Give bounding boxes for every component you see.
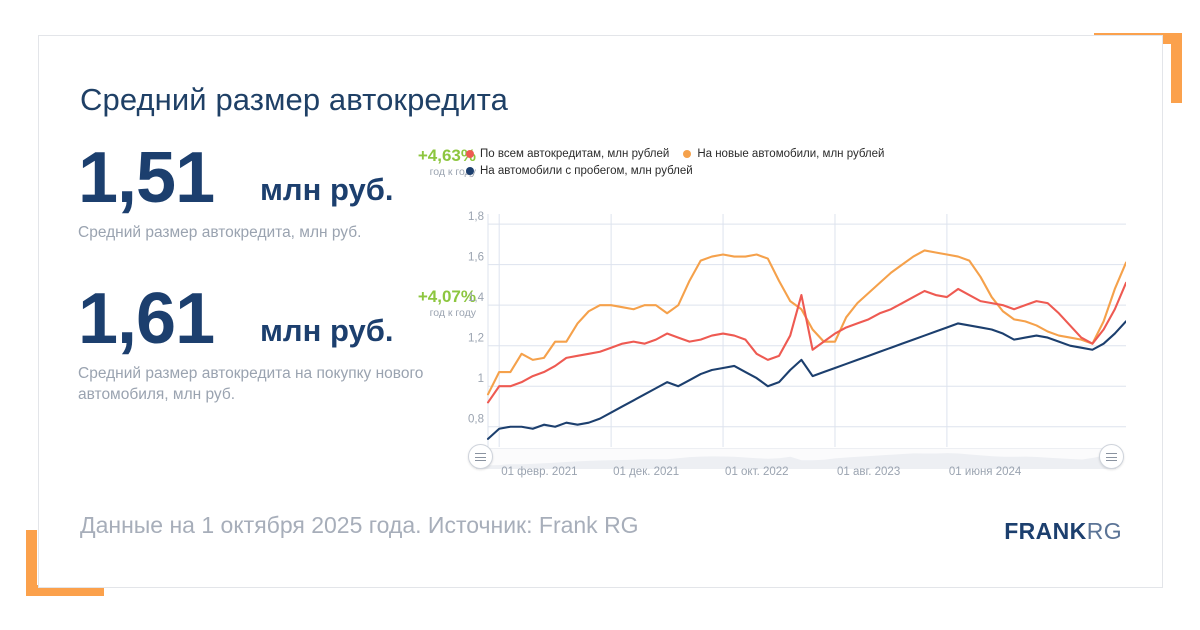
legend-dot-icon <box>683 150 691 158</box>
logo-bold-part: FRANK <box>1004 518 1087 544</box>
x-axis-tick-label: 01 февр. 2021 <box>501 466 577 478</box>
legend-item-used-cars[interactable]: На автомобили с пробегом, млн рублей <box>466 165 693 177</box>
legend-label: По всем автокредитам, млн рублей <box>480 148 669 160</box>
kpi-delta-caption: год к году <box>336 165 476 179</box>
kpi-block-total: 1,51 млн руб. +4,63% год к году Средний … <box>78 140 468 243</box>
chart-container: По всем автокредитам, млн рублей На новы… <box>466 148 1126 500</box>
chart-x-axis: 01 февр. 202101 дек. 202101 окт. 202201 … <box>466 466 1126 486</box>
line-chart-svg: 0,811,21,41,61,8 <box>466 206 1126 451</box>
legend-label: На новые автомобили, млн рублей <box>697 148 884 160</box>
legend-item-new-cars[interactable]: На новые автомобили, млн рублей <box>683 148 884 160</box>
x-axis-tick-label: 01 дек. 2021 <box>613 466 679 478</box>
svg-text:1,4: 1,4 <box>468 292 485 304</box>
legend-item-total[interactable]: По всем автокредитам, млн рублей <box>466 148 669 160</box>
kpi-value: 1,51 <box>78 142 214 214</box>
x-axis-tick-label: 01 июня 2024 <box>949 466 1021 478</box>
frank-rg-logo: FRANKRG <box>1004 518 1122 545</box>
kpi-value: 1,61 <box>78 283 214 355</box>
kpi-block-new-cars: 1,61 млн руб. +4,07% год к году Средний … <box>78 281 468 405</box>
svg-text:1,2: 1,2 <box>468 333 484 345</box>
legend-dot-icon <box>466 150 474 158</box>
svg-text:1,6: 1,6 <box>468 252 484 264</box>
svg-text:1,8: 1,8 <box>468 211 484 223</box>
logo-light-part: RG <box>1087 518 1122 544</box>
legend-dot-icon <box>466 167 474 175</box>
page-title: Средний размер автокредита <box>80 82 508 118</box>
source-note: Данные на 1 октября 2025 года. Источник:… <box>80 512 639 539</box>
svg-text:0,8: 0,8 <box>468 414 484 426</box>
kpi-delta-caption: год к году <box>336 306 476 320</box>
x-axis-tick-label: 01 окт. 2022 <box>725 466 789 478</box>
chart-plot-area: 0,811,21,41,61,8 <box>466 206 1126 451</box>
kpi-caption: Средний размер автокредита, млн руб. <box>78 222 438 243</box>
svg-text:1: 1 <box>478 373 484 385</box>
range-track[interactable] <box>476 448 1116 468</box>
kpi-delta-percent: +4,63% <box>336 146 476 165</box>
kpi-delta-percent: +4,07% <box>336 287 476 306</box>
x-axis-tick-label: 01 авг. 2023 <box>837 466 900 478</box>
kpi-caption: Средний размер автокредита на покупку но… <box>78 363 438 405</box>
chart-legend: По всем автокредитам, млн рублей На новы… <box>466 148 1126 177</box>
infographic-root: Средний размер автокредита 1,51 млн руб.… <box>0 0 1200 630</box>
kpi-delta: +4,07% год к году <box>336 287 476 320</box>
legend-label: На автомобили с пробегом, млн рублей <box>480 165 693 177</box>
kpi-delta: +4,63% год к году <box>336 146 476 179</box>
